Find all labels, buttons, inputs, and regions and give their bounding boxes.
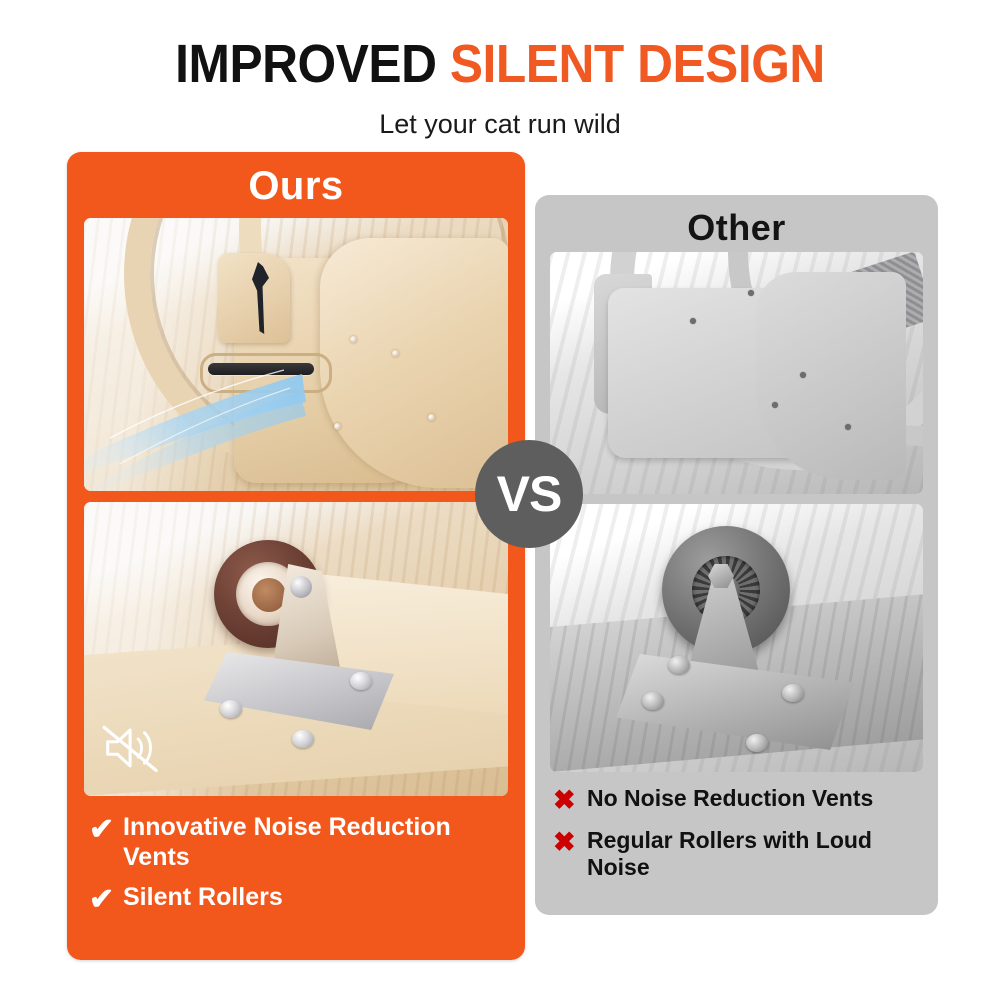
mount-bolt xyxy=(668,656,690,674)
mute-speaker-icon xyxy=(102,722,160,774)
feature-label: No Noise Reduction Vents xyxy=(587,785,873,813)
panel-heading-ours: Ours xyxy=(67,152,525,209)
photo-ours-wheel-base-vent xyxy=(84,218,508,491)
mount-bolt xyxy=(746,734,768,752)
screw-dot xyxy=(845,424,851,430)
photo-ours-silent-roller xyxy=(84,502,508,796)
roller-hub-center xyxy=(252,578,286,612)
screw-dot xyxy=(690,318,696,324)
title-part-improved: IMPROVED xyxy=(175,34,436,94)
mount-bolt xyxy=(350,672,372,690)
feature-list-other: ✖ No Noise Reduction Vents ✖ Regular Rol… xyxy=(553,785,929,892)
screw-dot xyxy=(772,402,778,408)
title-part-silent-design: SILENT DESIGN xyxy=(450,34,825,94)
screw-dot xyxy=(350,336,357,343)
mount-bolt xyxy=(642,692,664,710)
screw-dot xyxy=(800,372,806,378)
screw-dot xyxy=(748,290,754,296)
page-title: IMPROVED SILENT DESIGN xyxy=(40,0,960,93)
check-icon: ✔ xyxy=(89,882,123,917)
base-side-panel xyxy=(756,272,906,480)
roller-axle-bolt xyxy=(290,576,312,598)
mount-bolt xyxy=(292,730,314,748)
feature-item: ✖ No Noise Reduction Vents xyxy=(553,785,929,817)
mount-bolt xyxy=(220,700,242,718)
feature-item: ✖ Regular Rollers with Loud Noise xyxy=(553,827,929,882)
latch-bracket xyxy=(218,253,290,343)
header: IMPROVED SILENT DESIGN Let your cat run … xyxy=(0,0,1000,140)
screw-dot xyxy=(428,414,435,421)
mount-bolt xyxy=(782,684,804,702)
feature-item: ✔ Innovative Noise Reduction Vents xyxy=(89,812,513,872)
vs-label: VS xyxy=(497,465,562,523)
vs-badge: VS xyxy=(475,440,583,548)
feature-item: ✔ Silent Rollers xyxy=(89,882,513,917)
airflow-streams-icon xyxy=(84,368,314,491)
cross-icon: ✖ xyxy=(553,827,587,859)
comparison-panel-other: Other xyxy=(535,195,938,915)
feature-label: Regular Rollers with Loud Noise xyxy=(587,827,929,882)
feature-label: Innovative Noise Reduction Vents xyxy=(123,812,513,872)
feature-list-ours: ✔ Innovative Noise Reduction Vents ✔ Sil… xyxy=(89,812,513,927)
panel-heading-other: Other xyxy=(535,195,938,249)
photo-other-roller xyxy=(550,504,923,772)
comparison-panel-ours: Ours xyxy=(67,152,525,960)
cross-icon: ✖ xyxy=(553,785,587,817)
photo-other-wheel-base xyxy=(550,252,923,494)
infographic-canvas: IMPROVED SILENT DESIGN Let your cat run … xyxy=(0,0,1000,1000)
check-icon: ✔ xyxy=(89,812,123,847)
screw-dot xyxy=(334,423,341,430)
screw-dot xyxy=(392,350,399,357)
page-subtitle: Let your cat run wild xyxy=(0,93,1000,140)
feature-label: Silent Rollers xyxy=(123,882,283,912)
